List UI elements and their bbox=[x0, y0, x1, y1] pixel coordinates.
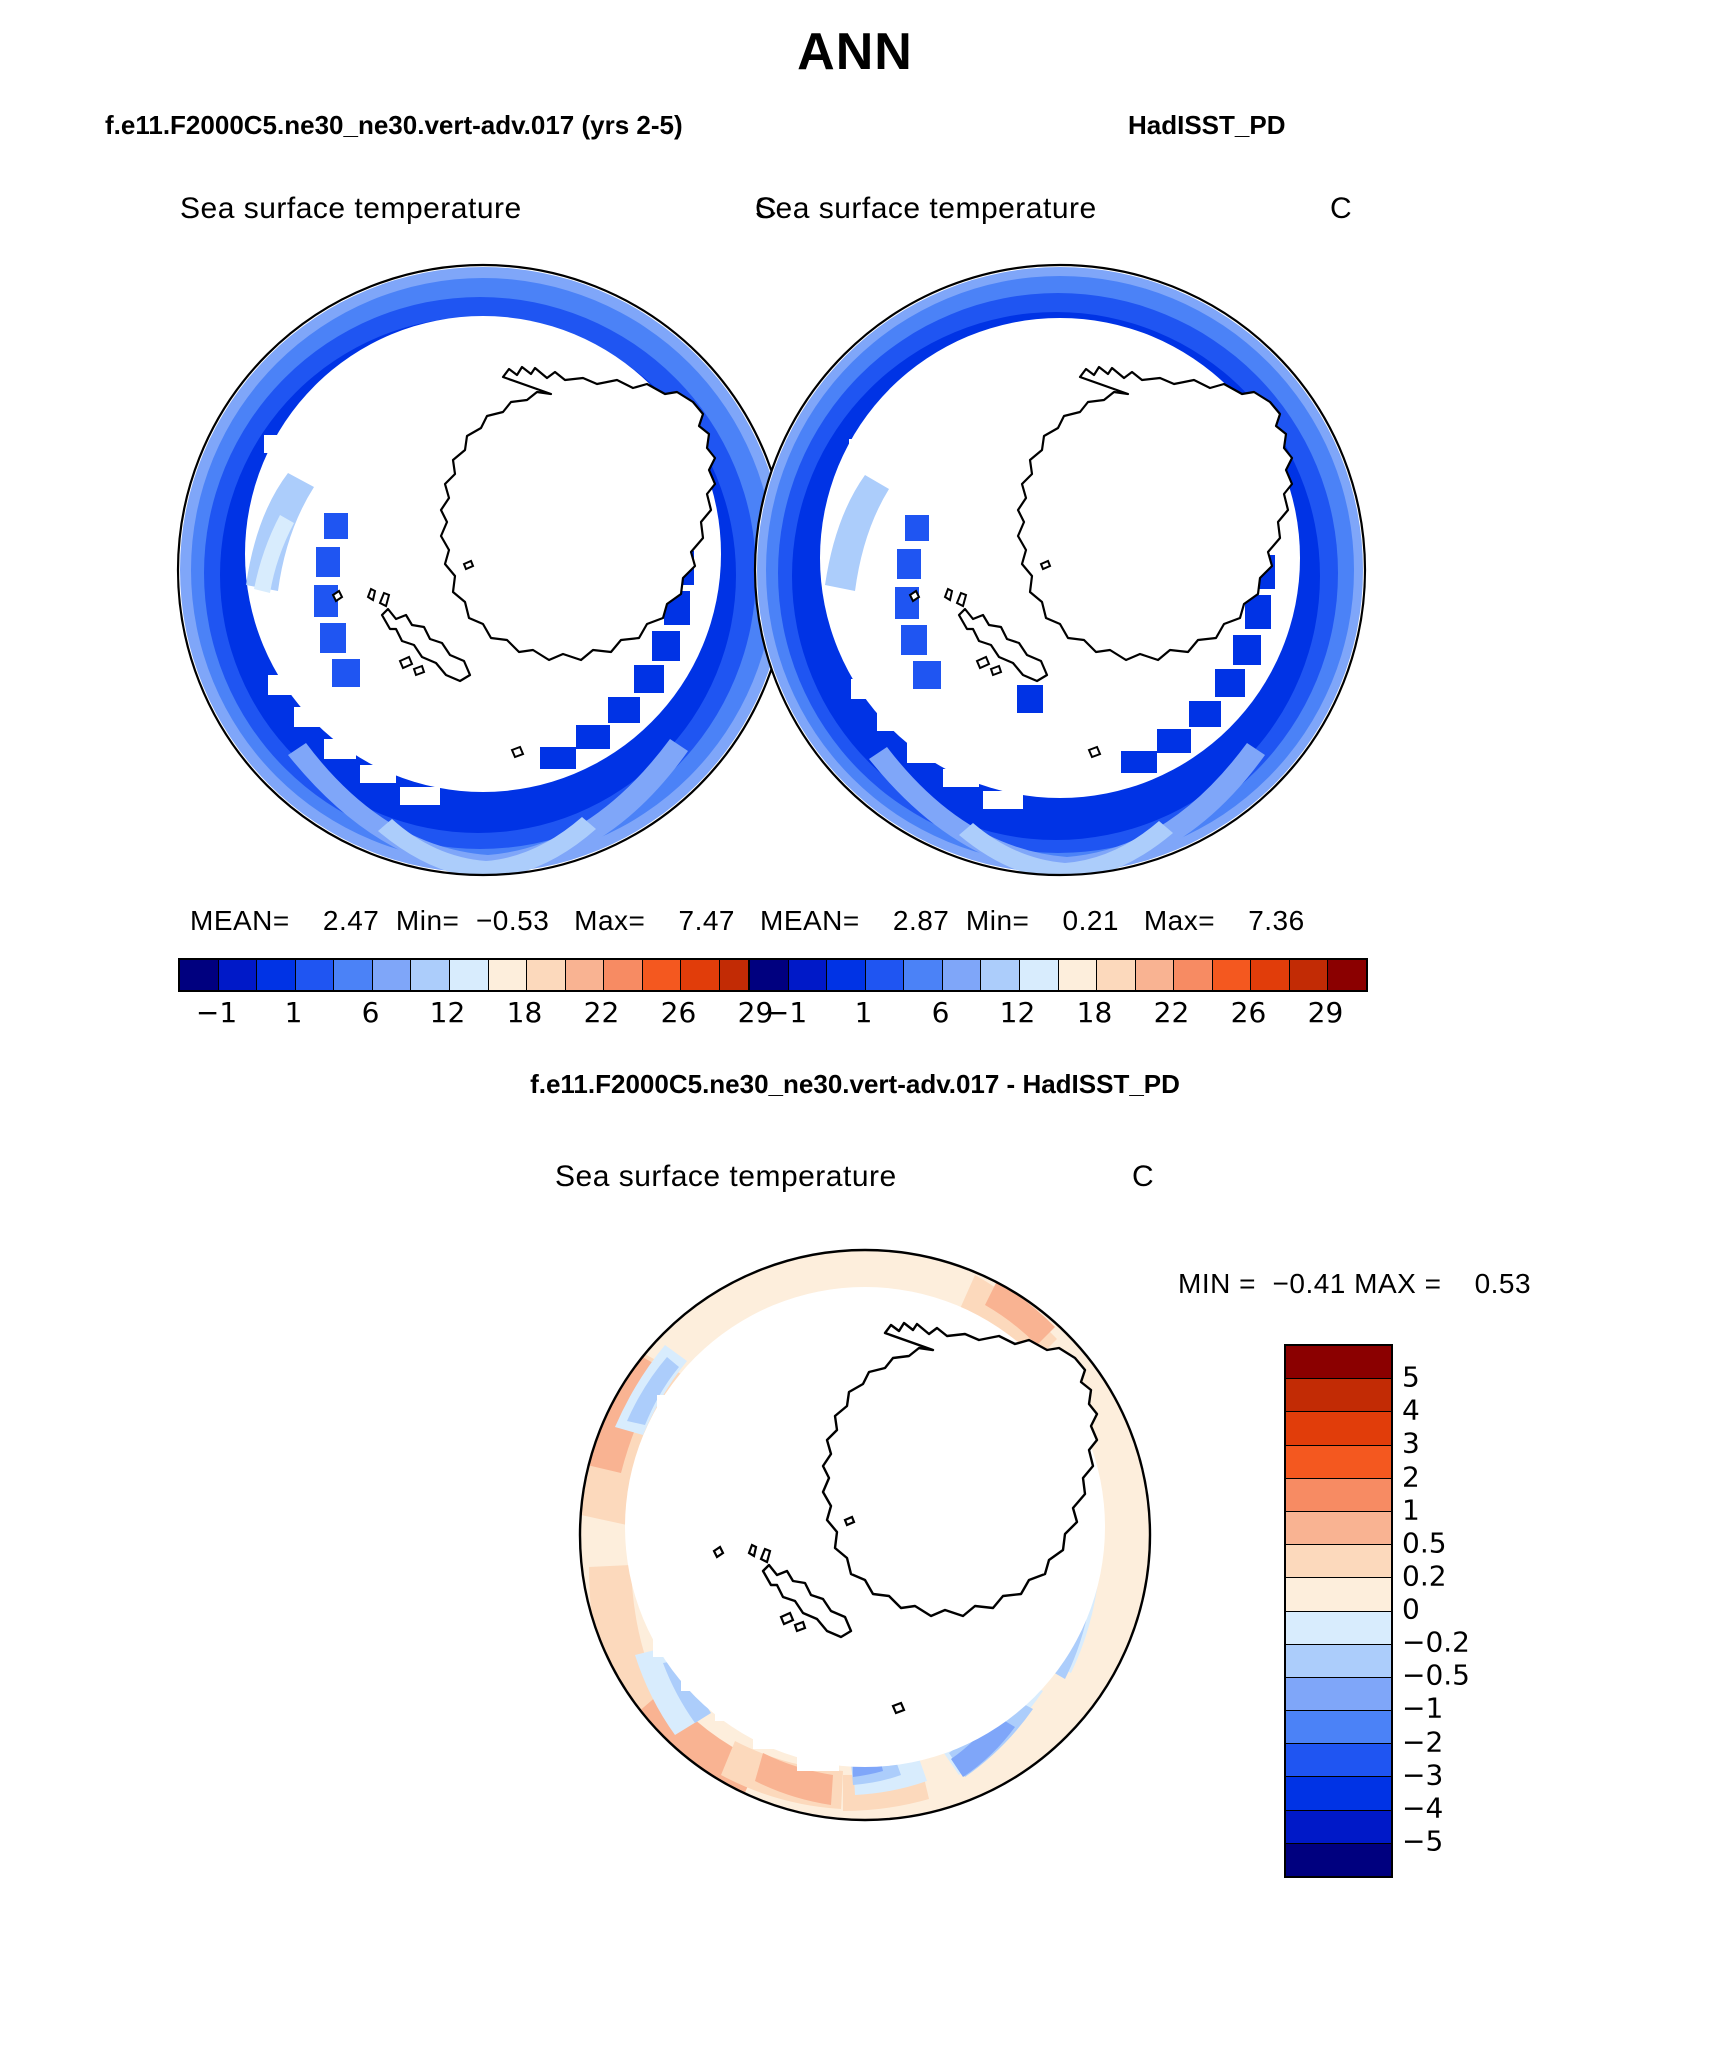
diff-panel-colorbar-labels: 543210.50.20−0.2−0.5−1−2−3−4−5 bbox=[1402, 1344, 1522, 1874]
colorbar-swatch bbox=[750, 960, 789, 990]
colorbar-swatch bbox=[527, 960, 566, 990]
colorbar-tick-label: 5 bbox=[1402, 1361, 1420, 1394]
colorbar-swatch bbox=[1286, 1512, 1391, 1545]
left-panel-colorbar[interactable] bbox=[178, 958, 798, 992]
colorbar-tick-label: −3 bbox=[1402, 1758, 1443, 1791]
colorbar-swatch bbox=[566, 960, 605, 990]
colorbar-tick-label: −4 bbox=[1402, 1791, 1443, 1824]
right-map-svg bbox=[745, 255, 1375, 885]
colorbar-swatch bbox=[1286, 1777, 1391, 1810]
colorbar-tick-label: 1 bbox=[855, 996, 873, 1029]
colorbar-tick-label: 22 bbox=[584, 996, 620, 1029]
colorbar-swatch bbox=[1286, 1412, 1391, 1445]
colorbar-tick-label: −0.2 bbox=[1402, 1626, 1470, 1659]
colorbar-tick-label: 26 bbox=[661, 996, 697, 1029]
colorbar-swatch bbox=[827, 960, 866, 990]
diff-panel-colorbar[interactable] bbox=[1284, 1344, 1393, 1878]
colorbar-tick-label: 12 bbox=[430, 996, 466, 1029]
colorbar-swatch bbox=[180, 960, 219, 990]
colorbar-swatch bbox=[1286, 1744, 1391, 1777]
right-panel-unit-label: C bbox=[1330, 192, 1352, 226]
right-panel-colorbar-labels: −1161218222629 bbox=[748, 996, 1364, 1036]
diff-panel-unit-label: C bbox=[1132, 1160, 1154, 1194]
colorbar-swatch bbox=[1251, 960, 1290, 990]
colorbar-swatch bbox=[1328, 960, 1366, 990]
colorbar-swatch bbox=[1286, 1479, 1391, 1512]
colorbar-tick-label: 2 bbox=[1402, 1460, 1420, 1493]
colorbar-swatch bbox=[1286, 1811, 1391, 1844]
left-panel-map bbox=[168, 255, 798, 885]
colorbar-tick-label: 12 bbox=[1000, 996, 1036, 1029]
colorbar-swatch bbox=[1286, 1711, 1391, 1744]
colorbar-swatch bbox=[943, 960, 982, 990]
colorbar-swatch bbox=[411, 960, 450, 990]
colorbar-swatch bbox=[1097, 960, 1136, 990]
right-panel-variable-label: Sea surface temperature bbox=[755, 192, 1097, 226]
colorbar-swatch bbox=[1059, 960, 1098, 990]
colorbar-swatch bbox=[1286, 1446, 1391, 1479]
colorbar-tick-label: −1 bbox=[766, 996, 807, 1029]
right-panel-stats: MEAN= 2.87 Min= 0.21 Max= 7.36 bbox=[760, 905, 1305, 937]
colorbar-swatch bbox=[643, 960, 682, 990]
colorbar-swatch bbox=[1286, 1379, 1391, 1412]
colorbar-tick-label: 6 bbox=[932, 996, 950, 1029]
left-panel-case-title: f.e11.F2000C5.ne30_ne30.vert-adv.017 (yr… bbox=[105, 110, 683, 141]
page-title: ANN bbox=[0, 22, 1710, 82]
colorbar-tick-label: 0 bbox=[1402, 1593, 1420, 1626]
left-map-svg bbox=[168, 255, 798, 885]
colorbar-tick-label: 26 bbox=[1231, 996, 1267, 1029]
colorbar-swatch bbox=[373, 960, 412, 990]
colorbar-swatch bbox=[450, 960, 489, 990]
colorbar-swatch bbox=[1286, 1678, 1391, 1711]
diff-panel-case-title: f.e11.F2000C5.ne30_ne30.vert-adv.017 - H… bbox=[0, 1069, 1710, 1100]
colorbar-swatch bbox=[866, 960, 905, 990]
right-panel-colorbar[interactable] bbox=[748, 958, 1368, 992]
colorbar-swatch bbox=[981, 960, 1020, 990]
colorbar-swatch bbox=[1286, 1844, 1391, 1876]
colorbar-tick-label: 0.5 bbox=[1402, 1526, 1447, 1559]
colorbar-swatch bbox=[1290, 960, 1329, 990]
colorbar-tick-label: −5 bbox=[1402, 1824, 1443, 1857]
colorbar-tick-label: 4 bbox=[1402, 1394, 1420, 1427]
colorbar-tick-label: 1 bbox=[285, 996, 303, 1029]
colorbar-swatch bbox=[789, 960, 828, 990]
colorbar-tick-label: 22 bbox=[1154, 996, 1190, 1029]
colorbar-tick-label: 18 bbox=[1077, 996, 1113, 1029]
colorbar-tick-label: −1 bbox=[196, 996, 237, 1029]
colorbar-swatch bbox=[1020, 960, 1059, 990]
colorbar-tick-label: −1 bbox=[1402, 1692, 1443, 1725]
colorbar-swatch bbox=[1286, 1578, 1391, 1611]
left-panel-colorbar-labels: −1161218222629 bbox=[178, 996, 794, 1036]
colorbar-tick-label: 1 bbox=[1402, 1493, 1420, 1526]
colorbar-swatch bbox=[681, 960, 720, 990]
colorbar-swatch bbox=[1136, 960, 1175, 990]
colorbar-swatch bbox=[489, 960, 528, 990]
colorbar-swatch bbox=[296, 960, 335, 990]
diff-panel-map bbox=[545, 1215, 1185, 1855]
colorbar-tick-label: −0.5 bbox=[1402, 1659, 1470, 1692]
left-panel-variable-label: Sea surface temperature bbox=[180, 192, 522, 226]
colorbar-tick-label: 29 bbox=[1308, 996, 1344, 1029]
colorbar-swatch bbox=[334, 960, 373, 990]
colorbar-swatch bbox=[1286, 1612, 1391, 1645]
diff-panel-variable-label: Sea surface temperature bbox=[555, 1160, 897, 1194]
colorbar-tick-label: 0.2 bbox=[1402, 1559, 1447, 1592]
left-panel-stats: MEAN= 2.47 Min= −0.53 Max= 7.47 bbox=[190, 905, 735, 937]
right-panel-case-title: HadISST_PD bbox=[1128, 110, 1286, 141]
colorbar-swatch bbox=[1174, 960, 1213, 990]
colorbar-swatch bbox=[257, 960, 296, 990]
colorbar-swatch bbox=[1286, 1645, 1391, 1678]
diff-map-svg bbox=[545, 1215, 1185, 1855]
colorbar-swatch bbox=[1213, 960, 1252, 990]
colorbar-tick-label: 18 bbox=[507, 996, 543, 1029]
colorbar-swatch bbox=[604, 960, 643, 990]
colorbar-swatch bbox=[219, 960, 258, 990]
colorbar-swatch bbox=[1286, 1346, 1391, 1379]
right-panel-map bbox=[745, 255, 1375, 885]
colorbar-tick-label: 6 bbox=[362, 996, 380, 1029]
colorbar-tick-label: 3 bbox=[1402, 1427, 1420, 1460]
colorbar-tick-label: −2 bbox=[1402, 1725, 1443, 1758]
colorbar-swatch bbox=[1286, 1545, 1391, 1578]
diff-panel-minmax: MIN = −0.41 MAX = 0.53 bbox=[1178, 1268, 1531, 1300]
colorbar-swatch bbox=[904, 960, 943, 990]
